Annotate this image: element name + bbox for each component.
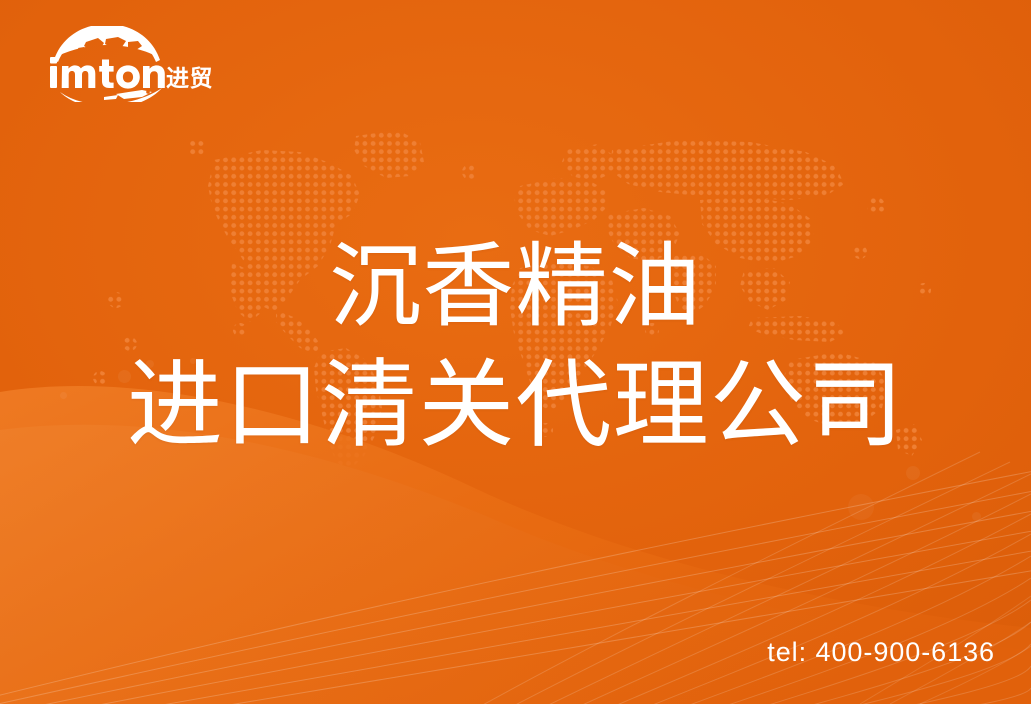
company-logo[interactable]: 进贸通 ® [38, 26, 213, 102]
logo-chinese-name: 进贸通 [166, 66, 213, 92]
headline-line-1: 沉香精油 [0, 228, 1031, 346]
headline-line-2: 进口清关代理公司 [0, 346, 1031, 466]
logo-svg: 进贸通 ® [38, 26, 213, 102]
promotional-banner: 进贸通 ® 沉香精油 进口清关代理公司 tel: 400-900-6136 [0, 0, 1031, 704]
headline-block: 沉香精油 进口清关代理公司 [0, 228, 1031, 466]
telephone-number[interactable]: tel: 400-900-6136 [767, 637, 995, 668]
